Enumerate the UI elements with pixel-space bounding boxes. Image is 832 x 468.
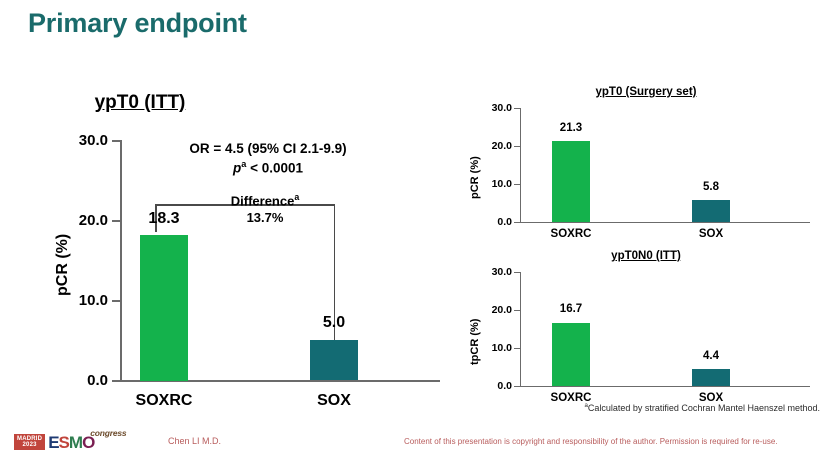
category-label-soxrc-surgery: SOXRC xyxy=(536,228,606,240)
madrid-2023-badge: MADRID 2023 xyxy=(14,434,45,451)
y-axis-line-ypt0n0 xyxy=(520,272,521,387)
y-axis-line-surgery xyxy=(520,108,521,223)
y-tick-ypt0n0-30: 30.0 xyxy=(470,266,512,278)
slide-footer: MADRID 2023 ESMOcongress Chen LI M.D. Co… xyxy=(0,424,832,468)
congress-label: congress xyxy=(90,429,126,438)
y-tick-ypt0n0-0: 0.0 xyxy=(470,380,512,392)
bar-sox-surgery[interactable] xyxy=(692,200,730,222)
category-label-sox-surgery: SOX xyxy=(676,228,746,240)
x-axis-line-surgery xyxy=(520,222,810,223)
bar-soxrc-main[interactable] xyxy=(140,235,188,381)
chart-ypt0-itt: ypT0 (ITT) pCR (%) 30.0 20.0 10.0 0.0 OR… xyxy=(40,92,440,412)
y-tick-surgery-0: 0.0 xyxy=(470,216,512,228)
bar-sox-ypt0n0[interactable] xyxy=(692,369,730,386)
y-tick-0: 0.0 xyxy=(50,372,108,389)
y-tick-ypt0n0-10: 10.0 xyxy=(470,342,512,354)
esmo-congress-logo: MADRID 2023 ESMOcongress xyxy=(14,432,94,452)
y-tick-surgery-30: 30.0 xyxy=(470,102,512,114)
y-tick-surgery-10: 10.0 xyxy=(470,178,512,190)
odds-ratio-text: OR = 4.5 (95% CI 2.1-9.9) xyxy=(158,140,378,158)
p-symbol: p xyxy=(233,161,241,176)
chart-title-main: ypT0 (ITT) xyxy=(40,92,240,114)
year-label: 2023 xyxy=(17,442,42,448)
bar-value-soxrc-surgery: 21.3 xyxy=(541,122,601,134)
difference-annotation: Differencea 13.7% xyxy=(200,192,330,227)
bar-soxrc-surgery[interactable] xyxy=(552,141,590,222)
statistics-annotation: OR = 4.5 (95% CI 2.1-9.9) pa < 0.0001 xyxy=(158,140,378,178)
category-label-sox-main: SOX xyxy=(294,392,374,410)
bar-value-sox-ypt0n0: 4.4 xyxy=(681,350,741,362)
bar-value-sox-surgery: 5.8 xyxy=(681,181,741,193)
footnote-text: Calculated by stratified Cochran Mantel … xyxy=(588,403,820,413)
difference-superscript: a xyxy=(294,192,299,202)
bar-value-soxrc-main: 18.3 xyxy=(130,210,198,228)
y-tick-20: 20.0 xyxy=(50,212,108,229)
copyright-notice: Content of this presentation is copyrigh… xyxy=(404,437,778,446)
bar-sox-main[interactable] xyxy=(310,340,358,380)
esmo-letter-e: E xyxy=(48,433,58,452)
esmo-letter-m: M xyxy=(69,433,82,452)
y-tick-ypt0n0-20: 20.0 xyxy=(470,304,512,316)
y-tick-10: 10.0 xyxy=(50,292,108,309)
p-value-text: pa < 0.0001 xyxy=(158,158,378,178)
chart-title-surgery: ypT0 (Surgery set) xyxy=(516,86,776,98)
difference-value: 13.7% xyxy=(200,210,330,227)
y-axis-line-main xyxy=(120,140,122,381)
chart-ypt0-surgery-set: ypT0 (Surgery set) pCR (%) 30.0 20.0 10.… xyxy=(456,86,826,246)
esmo-letter-s: S xyxy=(59,433,69,452)
footnote: aCalculated by stratified Cochran Mantel… xyxy=(584,402,820,413)
bar-value-soxrc-ypt0n0: 16.7 xyxy=(541,303,601,315)
category-label-soxrc-main: SOXRC xyxy=(124,392,204,410)
page-title: Primary endpoint xyxy=(28,8,247,39)
slide: Primary endpoint ypT0 (ITT) pCR (%) 30.0… xyxy=(0,0,832,468)
bar-soxrc-ypt0n0[interactable] xyxy=(552,323,590,387)
y-tick-30: 30.0 xyxy=(50,132,108,149)
y-tick-surgery-20: 20.0 xyxy=(470,140,512,152)
esmo-wordmark: ESMOcongress xyxy=(48,434,94,451)
bar-value-sox-main: 5.0 xyxy=(300,314,368,332)
presenter-name: Chen LI M.D. xyxy=(168,436,221,446)
chart-ypt0n0-itt: ypT0N0 (ITT) tpCR (%) 30.0 20.0 10.0 0.0… xyxy=(456,250,826,410)
difference-label: Differencea xyxy=(200,192,330,210)
x-axis-line-ypt0n0 xyxy=(520,386,810,387)
p-value-rest: < 0.0001 xyxy=(246,161,303,176)
chart-title-ypt0n0: ypT0N0 (ITT) xyxy=(516,250,776,262)
